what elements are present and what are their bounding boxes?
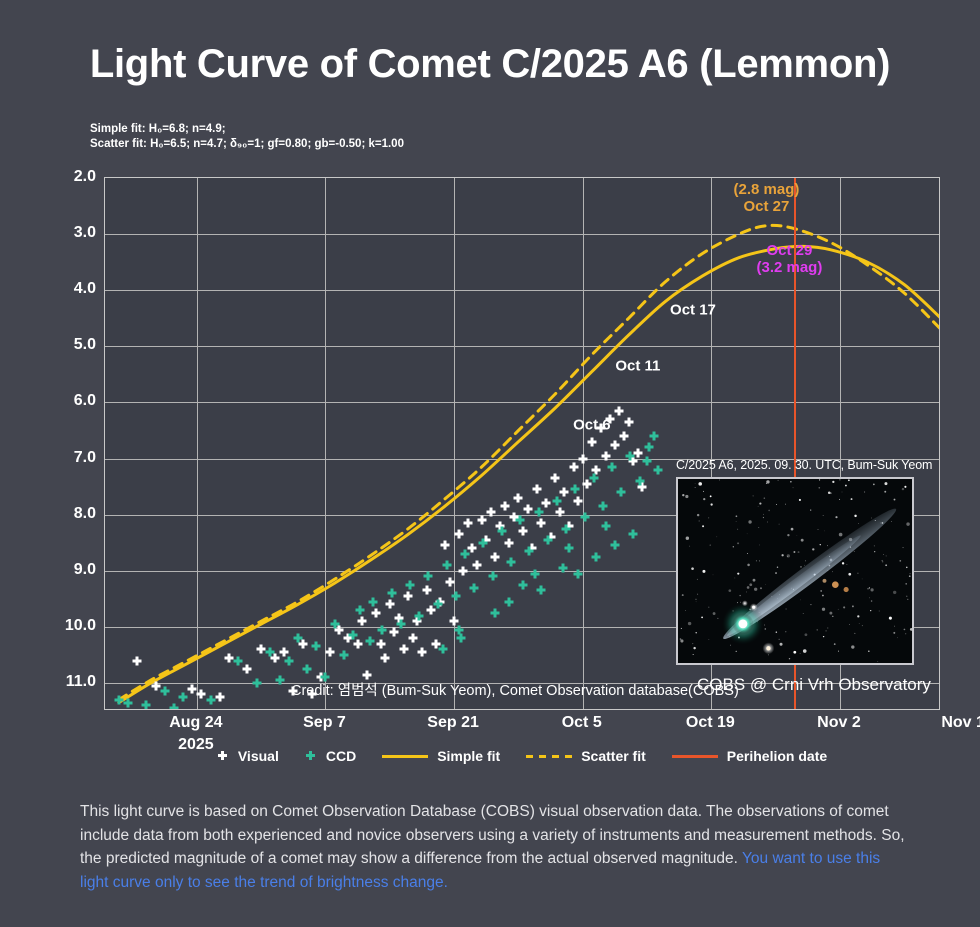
ccd-observation-point (365, 636, 374, 645)
legend-label: Simple fit (437, 748, 500, 764)
visual-observation-point (551, 474, 560, 483)
ccd-observation-point (491, 608, 500, 617)
visual-observation-point (445, 577, 454, 586)
y-axis-tick-label: 2.0 (74, 168, 96, 186)
ccd-observation-point (558, 563, 567, 572)
ccd-observation-point (415, 611, 424, 620)
ccd-observation-point (543, 535, 552, 544)
page-title: Light Curve of Comet C/2025 A6 (Lemmon) (0, 42, 980, 87)
ccd-observation-point (451, 591, 460, 600)
visual-observation-point (225, 653, 234, 662)
ccd-observation-point (206, 695, 215, 704)
visual-observation-point (381, 653, 390, 662)
visual-observation-point (385, 600, 394, 609)
ccd-observation-point (439, 645, 448, 654)
visual-observation-point (454, 530, 463, 539)
ccd-observation-point (234, 656, 243, 665)
visual-observation-point (500, 502, 509, 511)
visual-observation-point (555, 507, 564, 516)
ccd-observation-point (564, 544, 573, 553)
ccd-observation-point (644, 443, 653, 452)
y-axis-tick-label: 7.0 (74, 449, 96, 467)
visual-observation-point (463, 519, 472, 528)
ccd-observation-point (525, 547, 534, 556)
simple-fit-params: Simple fit: H₀=6.8; n=4.9; (90, 122, 404, 137)
curve-annotation-label: Oct 29(3.2 mag) (756, 242, 822, 276)
curve-annotation-label: Oct 17 (670, 301, 716, 318)
visual-observation-point (390, 628, 399, 637)
ccd-observation-point (356, 606, 365, 615)
visual-observation-point (243, 664, 252, 673)
visual-observation-point (624, 418, 633, 427)
visual-observation-point (422, 586, 431, 595)
legend-solid-line-icon (672, 750, 718, 762)
visual-observation-point (326, 648, 335, 657)
visual-observation-point (440, 541, 449, 550)
ccd-observation-point (252, 678, 261, 687)
visual-observation-point (257, 645, 266, 654)
scatter-fit-params: Scatter fit: H₀=6.5; n=4.7; δ₉₀=1; gf=0.… (90, 137, 404, 152)
legend-label: CCD (326, 748, 356, 764)
x-axis-tick-label: Oct 5 (562, 714, 602, 732)
comet-photo (676, 477, 914, 665)
ccd-observation-point (169, 704, 178, 710)
y-axis-tick-label: 5.0 (74, 336, 96, 354)
ccd-observation-point (505, 597, 514, 606)
ccd-observation-point (530, 569, 539, 578)
ccd-observation-point (479, 538, 488, 547)
visual-observation-point (486, 507, 495, 516)
ccd-observation-point (650, 432, 659, 441)
ccd-observation-point (396, 620, 405, 629)
ccd-observation-point (461, 549, 470, 558)
visual-observation-point (569, 462, 578, 471)
ccd-observation-point (592, 552, 601, 561)
visual-observation-point (537, 519, 546, 528)
visual-observation-point (601, 451, 610, 460)
inset-photo-panel: C/2025 A6, 2025. 09. 30. UTC, Bum-Suk Ye… (676, 458, 920, 665)
x-axis-tick-label: Oct 19 (686, 714, 735, 732)
ccd-observation-point (507, 558, 516, 567)
ccd-observation-point (457, 634, 466, 643)
visual-observation-point (362, 670, 371, 679)
legend-dashed-line-icon (526, 750, 572, 762)
ccd-observation-point (454, 625, 463, 634)
visual-observation-point (615, 406, 624, 415)
visual-observation-point (532, 485, 541, 494)
visual-observation-point (459, 566, 468, 575)
visual-observation-point (399, 645, 408, 654)
chart-legend: VisualCCDSimple fitScatter fitPerihelion… (104, 748, 940, 764)
visual-observation-point (578, 454, 587, 463)
ccd-observation-point (552, 496, 561, 505)
ccd-observation-point (635, 476, 644, 485)
ccd-observation-point (442, 561, 451, 570)
ccd-observation-point (339, 650, 348, 659)
ccd-observation-point (537, 586, 546, 595)
visual-observation-point (574, 496, 583, 505)
visual-observation-point (505, 538, 514, 547)
ccd-observation-point (574, 569, 583, 578)
visual-observation-point (133, 656, 142, 665)
legend-item[interactable]: Simple fit (382, 748, 500, 764)
visual-observation-point (417, 648, 426, 657)
ccd-observation-point (142, 701, 151, 710)
ccd-observation-point (654, 465, 663, 474)
inset-caption: C/2025 A6, 2025. 09. 30. UTC, Bum-Suk Ye… (676, 458, 920, 472)
visual-observation-point (151, 681, 160, 690)
legend-label: Visual (238, 748, 279, 764)
visual-observation-point (358, 617, 367, 626)
y-axis-tick-label: 10.0 (65, 617, 96, 635)
visual-observation-point (620, 432, 629, 441)
x-axis-tick-label: Nov 16 (941, 714, 980, 732)
visual-observation-point (376, 639, 385, 648)
legend-solid-line-icon (382, 750, 428, 762)
legend-item[interactable]: Perihelion date (672, 748, 827, 764)
ccd-observation-point (617, 488, 626, 497)
legend-item[interactable]: Scatter fit (526, 748, 646, 764)
ccd-observation-point (433, 600, 442, 609)
curve-annotation-label: Oct 6 (573, 416, 611, 433)
ccd-observation-point (610, 541, 619, 550)
ccd-observation-point (303, 664, 312, 673)
ccd-observation-point (488, 572, 497, 581)
visual-observation-point (188, 684, 197, 693)
ccd-observation-point (626, 451, 635, 460)
ccd-observation-point (534, 507, 543, 516)
ccd-observation-point (598, 502, 607, 511)
ccd-observation-point (312, 642, 321, 651)
visual-observation-point (372, 608, 381, 617)
y-axis-tick-label: 9.0 (74, 561, 96, 579)
cobs-source-text: COBS @ Crni Vrh Observatory (697, 675, 931, 695)
ccd-observation-point (516, 516, 525, 525)
x-axis-tick-label: Sep 21 (427, 714, 479, 732)
y-axis-tick-label: 8.0 (74, 505, 96, 523)
ccd-observation-point (123, 698, 132, 707)
ccd-observation-point (571, 485, 580, 494)
ccd-observation-point (369, 597, 378, 606)
credit-text: Credit: 염범석 (Bum-Suk Yeom), Comet Observ… (291, 679, 739, 700)
visual-observation-point (197, 690, 206, 699)
ccd-observation-point (114, 695, 123, 704)
ccd-observation-point (519, 580, 528, 589)
visual-observation-point (477, 516, 486, 525)
ccd-observation-point (601, 521, 610, 530)
ccd-observation-point (293, 634, 302, 643)
legend-plus-marker-icon (217, 750, 229, 762)
ccd-observation-point (284, 656, 293, 665)
visual-observation-point (408, 634, 417, 643)
visual-observation-point (404, 591, 413, 600)
ccd-observation-point (275, 676, 284, 685)
curve-annotation-label: Oct 11 (615, 357, 660, 374)
footer-description: This light curve is based on Comet Obser… (80, 800, 910, 894)
y-axis-tick-label: 11.0 (66, 673, 96, 691)
ccd-observation-point (406, 580, 415, 589)
ccd-observation-point (424, 572, 433, 581)
ccd-observation-point (629, 530, 638, 539)
ccd-observation-point (608, 462, 617, 471)
x-axis-tick-label: Sep 7 (303, 714, 346, 732)
y-axis-tick-label: 3.0 (74, 224, 96, 242)
y-axis-tick-label: 6.0 (74, 392, 96, 410)
visual-observation-point (587, 437, 596, 446)
legend-label: Scatter fit (581, 748, 646, 764)
visual-observation-point (353, 639, 362, 648)
ccd-observation-point (349, 631, 358, 640)
ccd-observation-point (580, 513, 589, 522)
light-curve-plot: Oct 6Oct 11Oct 17(2.8 mag)Oct 27Oct 29(3… (104, 177, 940, 710)
legend-plus-marker-icon (305, 750, 317, 762)
ccd-observation-point (470, 583, 479, 592)
visual-observation-point (519, 527, 528, 536)
visual-observation-point (491, 552, 500, 561)
y-axis-tick-label: 4.0 (74, 280, 96, 298)
ccd-observation-point (643, 457, 652, 466)
visual-observation-point (514, 493, 523, 502)
visual-observation-point (523, 505, 532, 514)
ccd-observation-point (387, 589, 396, 598)
ccd-observation-point (330, 620, 339, 629)
legend-item[interactable]: Visual (217, 748, 279, 764)
legend-item[interactable]: CCD (305, 748, 356, 764)
ccd-observation-point (266, 648, 275, 657)
x-axis-tick-label: Nov 2 (817, 714, 861, 732)
fit-parameters: Simple fit: H₀=6.8; n=4.9; Scatter fit: … (90, 122, 404, 152)
visual-observation-point (215, 692, 224, 701)
ccd-observation-point (179, 692, 188, 701)
ccd-observation-point (589, 474, 598, 483)
curve-annotation-label: (2.8 mag)Oct 27 (734, 181, 800, 215)
ccd-observation-point (562, 524, 571, 533)
ccd-observation-point (160, 687, 169, 696)
visual-observation-point (473, 561, 482, 570)
ccd-observation-point (497, 527, 506, 536)
visual-observation-point (610, 440, 619, 449)
ccd-observation-point (378, 625, 387, 634)
legend-label: Perihelion date (727, 748, 827, 764)
